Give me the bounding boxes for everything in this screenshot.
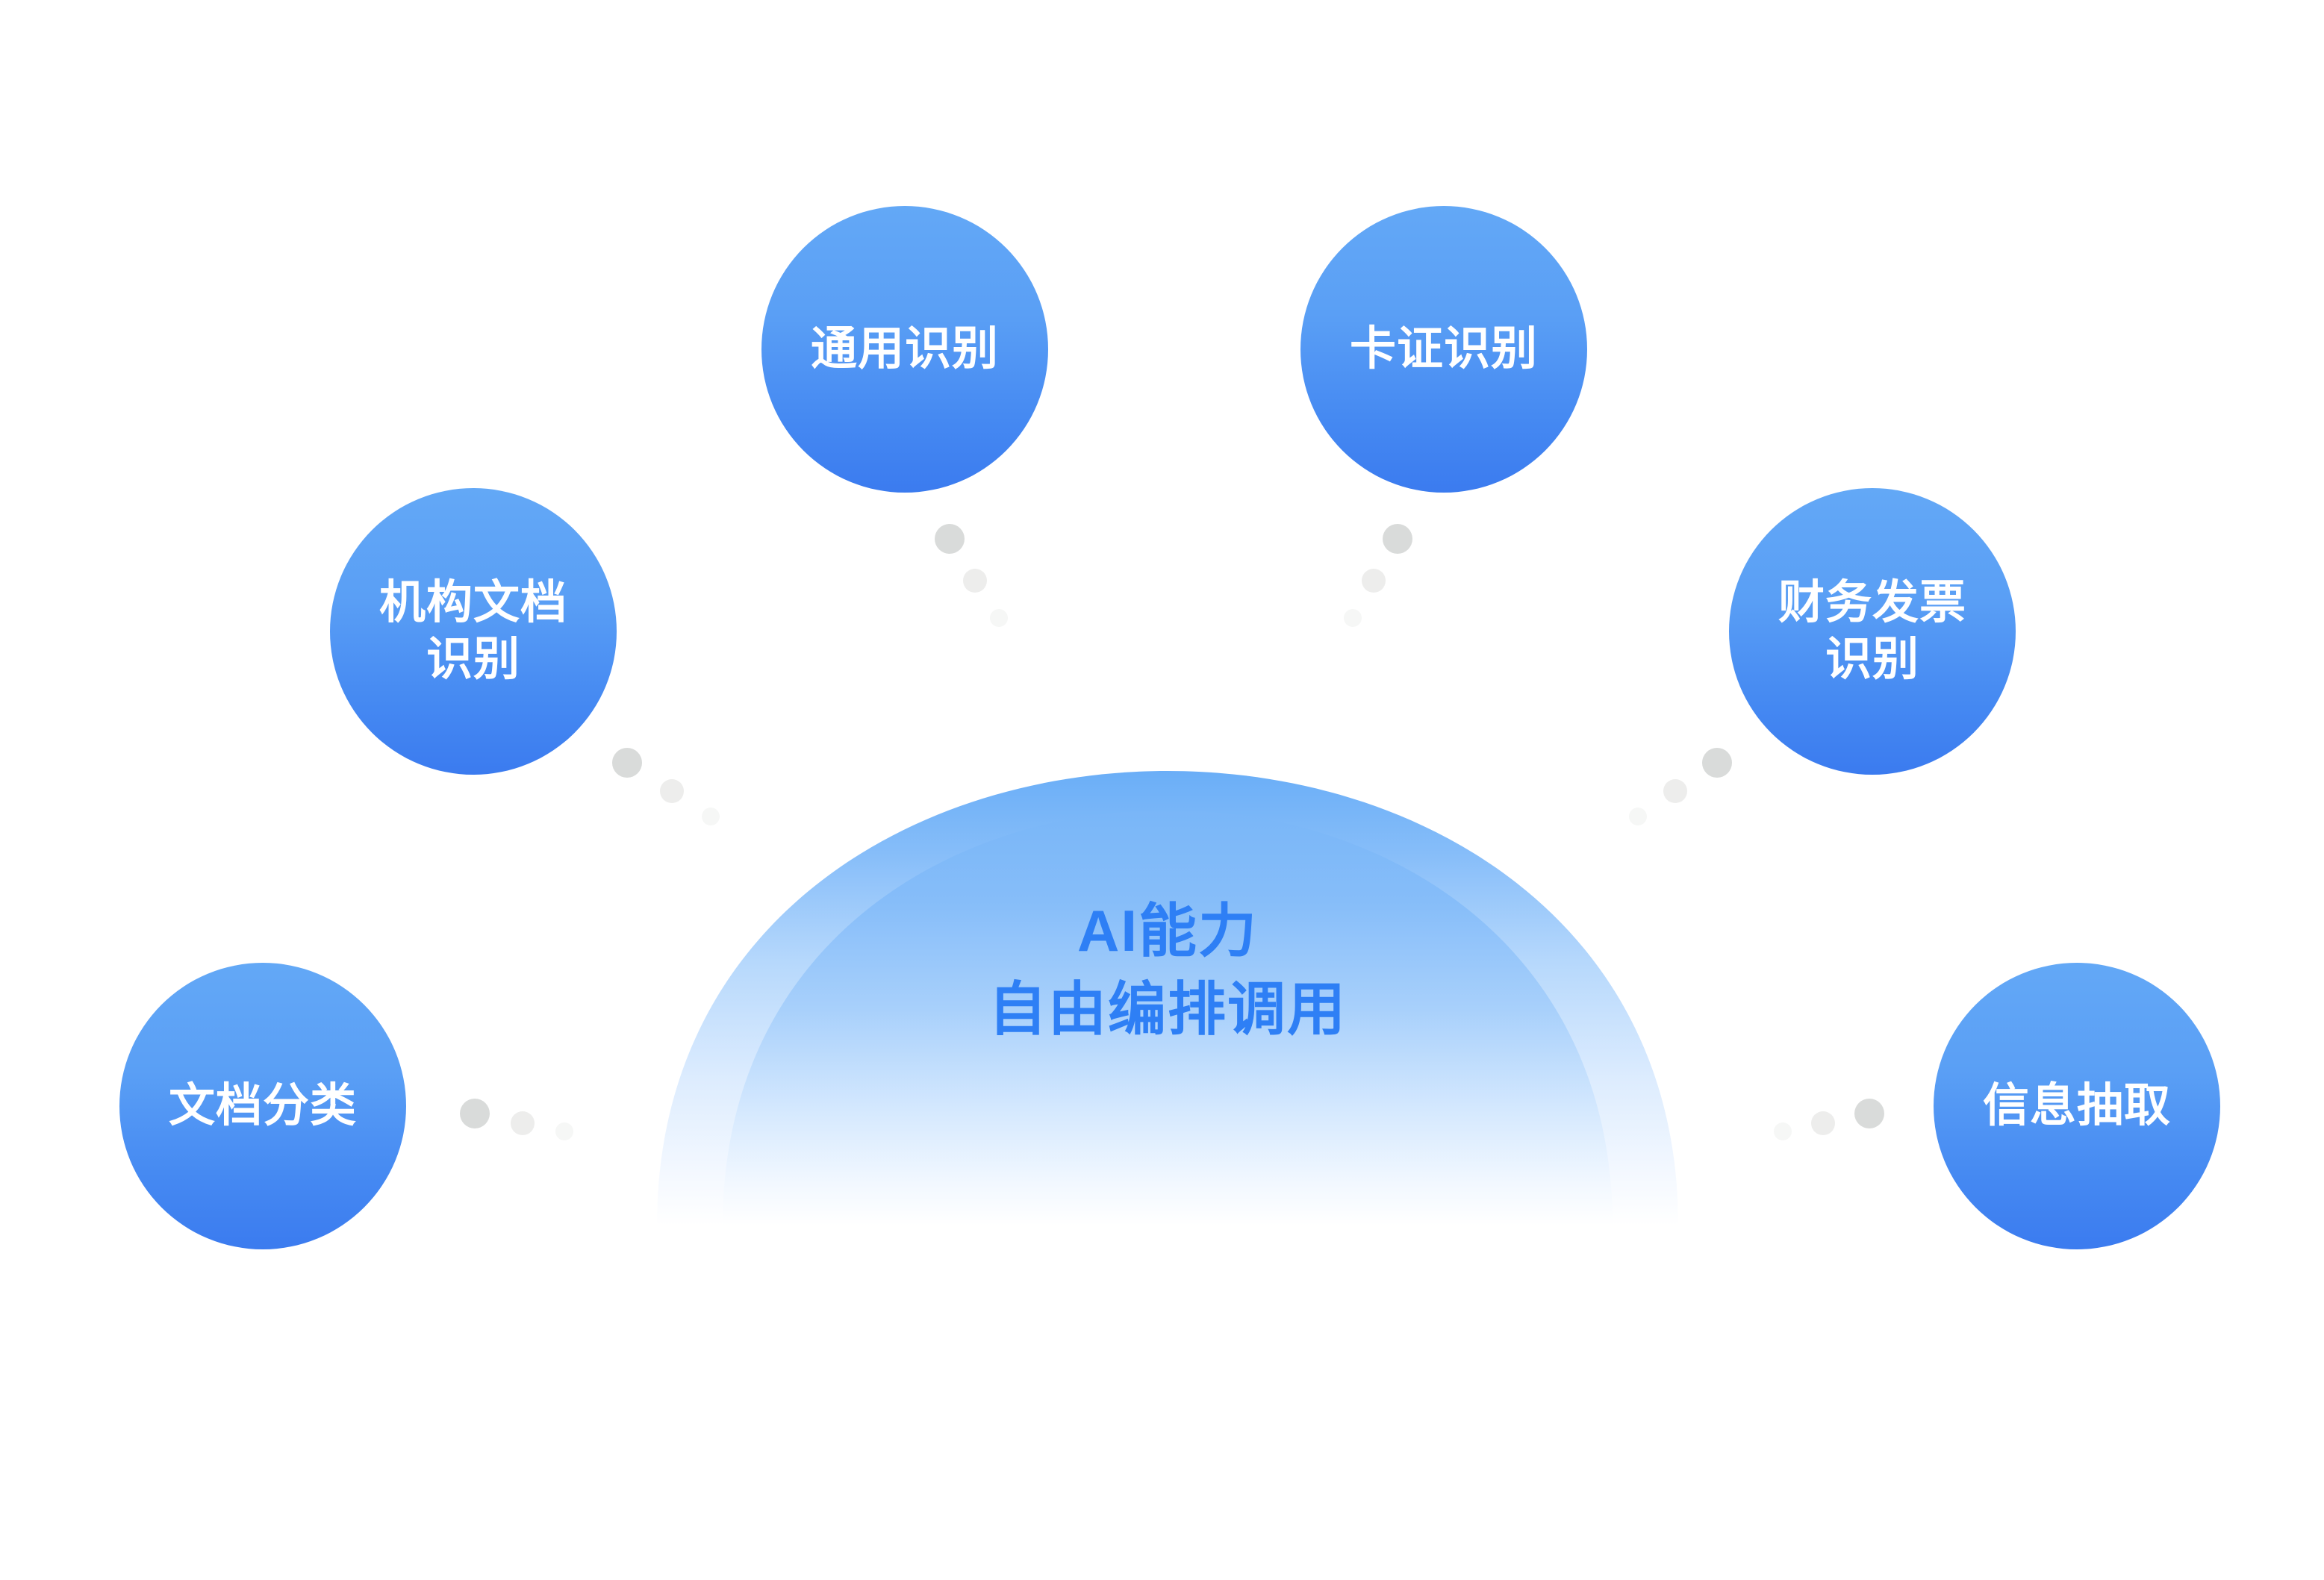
- connector-dot: [702, 808, 720, 825]
- bubble-institution-document-recognition[interactable]: 机构文档 识别: [330, 488, 617, 775]
- connector-dot: [1854, 1099, 1884, 1128]
- connector-dot: [1383, 524, 1412, 554]
- connector-dot: [935, 524, 965, 554]
- bubble-label: 卡证识别: [1300, 321, 1587, 378]
- center-headline-line1: AI能力: [988, 892, 1347, 970]
- connector-dot: [990, 609, 1008, 627]
- connector-dot: [1344, 609, 1362, 627]
- connector-dot: [1774, 1122, 1792, 1140]
- connector-dot: [460, 1099, 490, 1128]
- bubble-label: 机构文档 识别: [330, 575, 617, 687]
- bubble-label: 文档分类: [119, 1078, 406, 1134]
- bubble-label: 通用识别: [761, 321, 1048, 378]
- center-headline: AI能力 自由编排调用: [988, 892, 1347, 1048]
- connector-dot: [612, 748, 642, 778]
- connector-dot: [1811, 1111, 1835, 1135]
- connector-dot: [1362, 569, 1386, 593]
- bubble-label: 信息抽取: [1934, 1078, 2220, 1134]
- connector-dot: [1702, 748, 1732, 778]
- diagram-canvas: AI能力 自由编排调用 文档分类 机构文档 识别 通用识别 卡证识别 财务发票 …: [0, 0, 2324, 1580]
- bubble-information-extraction[interactable]: 信息抽取: [1934, 963, 2220, 1249]
- bubble-label: 财务发票 识别: [1729, 575, 2016, 687]
- connector-dot: [660, 779, 684, 803]
- connector-dot: [963, 569, 987, 593]
- connector-dot: [511, 1111, 535, 1135]
- connector-dot: [1663, 779, 1687, 803]
- bubble-document-classification[interactable]: 文档分类: [119, 963, 406, 1249]
- connector-dot: [555, 1122, 573, 1140]
- bubble-card-certificate-recognition[interactable]: 卡证识别: [1300, 206, 1587, 493]
- ai-capability-dome: [0, 0, 2324, 1580]
- bubble-finance-invoice-recognition[interactable]: 财务发票 识别: [1729, 488, 2016, 775]
- connector-dot: [1629, 808, 1647, 825]
- bubble-general-recognition[interactable]: 通用识别: [761, 206, 1048, 493]
- dome-svg: [0, 0, 2324, 1580]
- center-headline-line2: 自由编排调用: [988, 970, 1347, 1049]
